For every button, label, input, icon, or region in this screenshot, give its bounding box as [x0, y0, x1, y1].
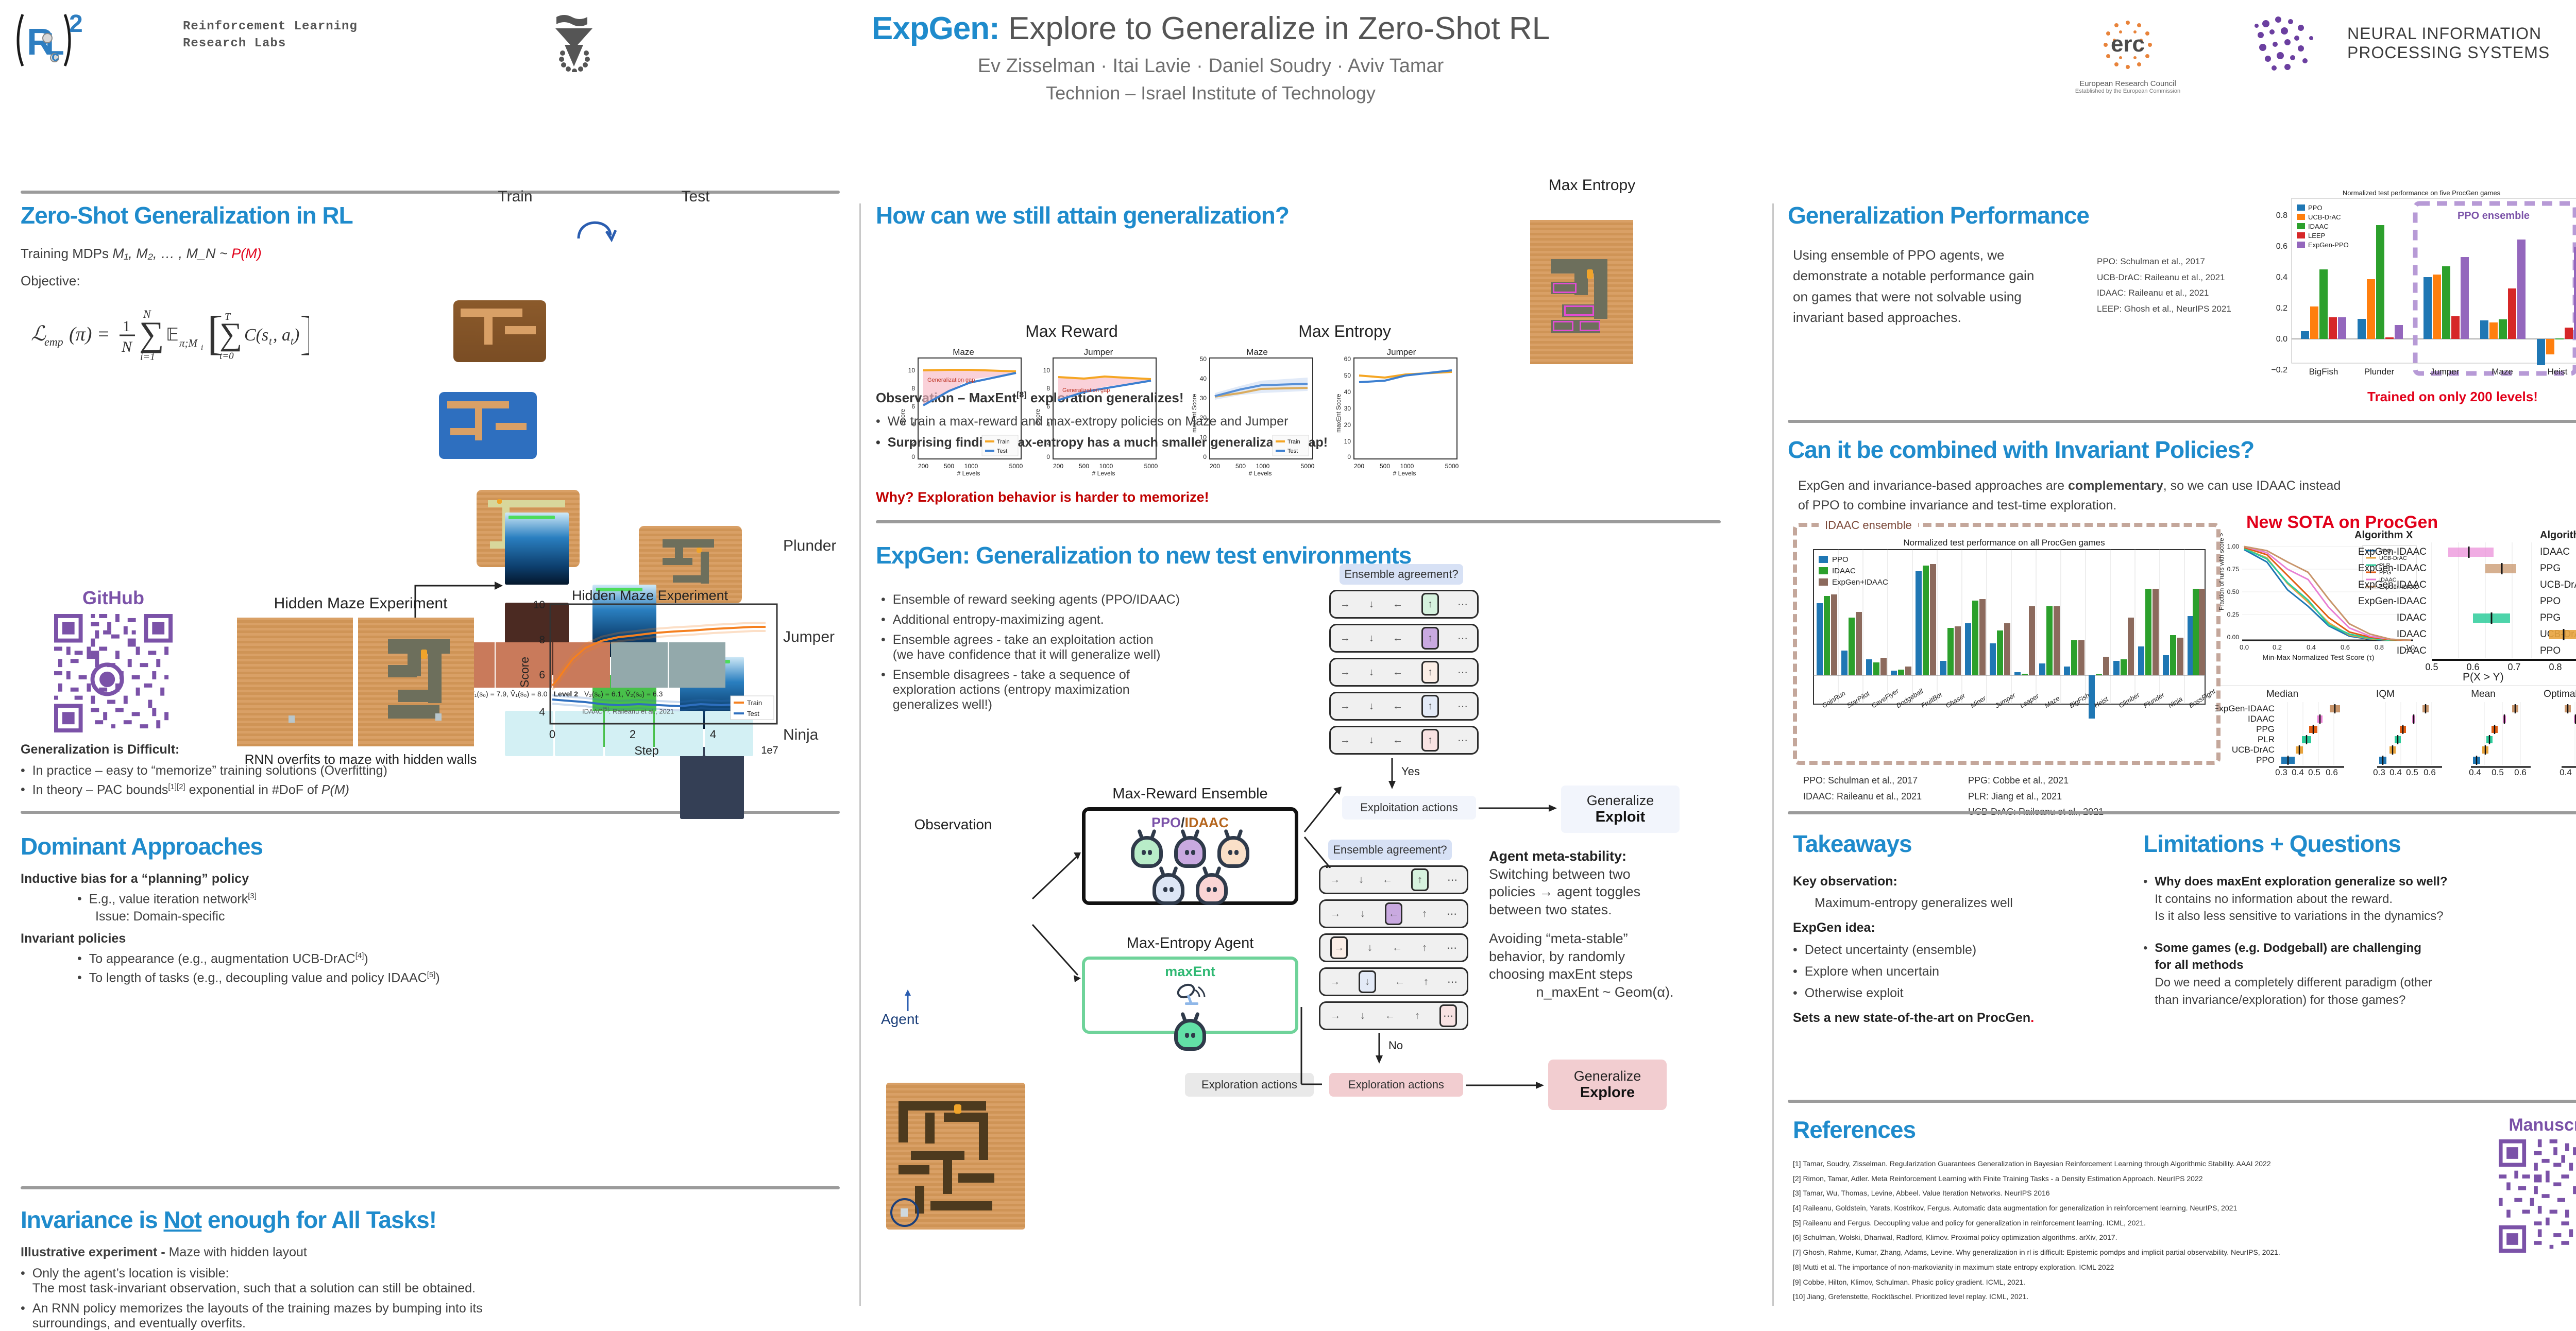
svg-text:BigFish: BigFish: [2309, 367, 2338, 377]
agent-icon-peach: [1217, 836, 1249, 868]
observation-label: Observation: [881, 816, 1025, 833]
exploration-actions-box-1: Exploration actions: [1185, 1073, 1314, 1097]
svg-text:0.00: 0.00: [2227, 634, 2240, 641]
section-title-takeaways: Takeaways: [1793, 832, 1912, 856]
meta-l4: Avoiding “meta-stable”: [1489, 930, 1721, 948]
ppo-text: PPO: [1151, 815, 1181, 830]
reference-item: [10] Jiang, Grefenstette, Rocktäschel. P…: [1793, 1289, 2458, 1304]
svg-text:0.2: 0.2: [2276, 304, 2287, 313]
svg-text:0.7: 0.7: [2507, 662, 2520, 672]
svg-text:Train: Train: [1287, 439, 1300, 445]
takeaways-body: Key observation: Maximum-entropy general…: [1793, 873, 2133, 1027]
arrow-down-icon: ↓: [1367, 942, 1372, 954]
arrow-right-icon: →: [1340, 599, 1350, 610]
len-a: To length of tasks (e.g., decoupling val…: [89, 970, 427, 985]
ellipsis-icon: ⋯: [1458, 632, 1468, 645]
bullet-ensemble-agents: •Ensemble of reward seeking agents (PPO/…: [881, 592, 1401, 607]
train-label: Train: [448, 188, 582, 206]
svg-text:0.4: 0.4: [2292, 767, 2304, 775]
hidden-maze-chart: Hidden Maze Experiment 10 8 6 4 Score 0 …: [515, 590, 804, 760]
divider-mid-1: [876, 520, 1721, 523]
maxentropy-plots-label: Max Entropy: [1236, 322, 1453, 341]
bullet-dot: •: [21, 1266, 25, 1296]
len-b: ): [435, 970, 439, 985]
svg-text:0.4: 0.4: [2307, 643, 2316, 651]
why-maxent-s2: Is it also less sensitive to variations …: [2155, 908, 2447, 925]
svg-text:Dodgeball: Dodgeball: [1895, 687, 1925, 709]
svg-text:500: 500: [1235, 463, 1246, 470]
lab-name-text-2: Research Labs: [183, 37, 358, 50]
svg-text:Score: Score: [1034, 408, 1041, 425]
arrow-down-icon: ↓: [1359, 874, 1364, 886]
manuscript-label: Manuscript: [2494, 1115, 2576, 1135]
inductive-bias-heading: Inductive bias for a “planning” policy: [21, 872, 840, 886]
svg-text:PPO: PPO: [2540, 596, 2561, 607]
ensemble-row-2-3: → ↓ ← ↑ ⋯: [1319, 933, 1468, 962]
svg-text:Maze: Maze: [2043, 694, 2061, 710]
lab-name-text-1: Reinforcement Learning: [183, 20, 358, 33]
svg-text:40: 40: [1200, 375, 1207, 382]
cite2-idaac: IDAAC: Raileanu et al., 2021: [1803, 789, 1922, 805]
section-title-expgen: ExpGen: Generalization to new test envir…: [876, 543, 1649, 567]
svg-text:Step: Step: [634, 744, 658, 757]
svg-text:10: 10: [533, 599, 545, 611]
svg-text:IDAAC: IDAAC: [2397, 629, 2427, 640]
arrow-up-icon-highlighted: ↑: [1421, 661, 1439, 684]
svg-text:Maze: Maze: [1246, 348, 1268, 357]
arrow-right-icon: →: [1340, 667, 1350, 678]
svg-text:0.6: 0.6: [2466, 662, 2479, 672]
trained-on-200-levels-note: Trained on only 200 levels!: [2367, 389, 2538, 405]
arrow-left-icon: ←: [1392, 942, 1402, 954]
svg-text:(π) =: (π) =: [69, 323, 110, 345]
agent-visible-l2: The most task-invariant observation, suc…: [32, 1281, 476, 1296]
bullet-dodgeball: • Some games (e.g. Dodgeball) are challe…: [2143, 940, 2576, 1009]
affiliation: Technion – Israel Institute of Technolog…: [644, 82, 1777, 104]
svg-text:8: 8: [911, 385, 915, 392]
dodgeball-s2: than invariance/exploration) for those g…: [2155, 992, 2432, 1009]
svg-text:1.00: 1.00: [2227, 543, 2240, 550]
arrow-up-icon: ↑: [1415, 1010, 1420, 1022]
reference-item: [6] Schulman, Wolski, Dhariwal, Radford,…: [1793, 1230, 2458, 1245]
svg-text:PPO: PPO: [2256, 755, 2275, 765]
svg-text:Miner: Miner: [1969, 694, 1988, 709]
svg-text:5000: 5000: [1009, 463, 1023, 470]
exploration-actions-box-2: Exploration actions: [1329, 1073, 1463, 1097]
svg-text:i=1: i=1: [140, 351, 155, 363]
maxent-thumbnail-label: Max Entropy: [1520, 177, 1664, 194]
svg-text:IDAAC: IDAAC: [2397, 612, 2427, 623]
svg-text:T: T: [225, 311, 231, 322]
section-title-dominant: Dominant Approaches: [21, 834, 840, 858]
arrow-up-icon-highlighted: ↑: [1421, 695, 1439, 718]
svg-text:IDAAC: IDAAC: [2540, 547, 2570, 557]
svg-text:Algorithm Y: Algorithm Y: [2540, 530, 2576, 541]
svg-text:4: 4: [1046, 421, 1050, 428]
svg-text:30: 30: [1344, 405, 1351, 412]
ci-bold: complementary: [2068, 479, 2163, 493]
svg-text:Maze: Maze: [2492, 367, 2513, 377]
svg-text:0.5: 0.5: [2492, 767, 2504, 775]
bullet-dot: •: [881, 668, 886, 712]
pac-a: In theory – PAC bounds: [32, 782, 168, 797]
svg-text:]: ]: [300, 306, 309, 359]
bullet-agent-visible: • Only the agent’s location is visible: …: [21, 1266, 840, 1296]
svg-text:0: 0: [1347, 453, 1351, 460]
svg-text:Jumper: Jumper: [1387, 348, 1416, 357]
svg-text:π;M: π;M: [179, 337, 198, 349]
app-sup: [4]: [355, 951, 364, 960]
why-maxent-s1: It contains no information about the rew…: [2155, 891, 2447, 908]
otherwise-exploit-text: Otherwise exploit: [1805, 985, 1904, 1002]
column-divider-1: [859, 203, 861, 1306]
illus-rest: Maze with hidden layout: [169, 1245, 307, 1259]
svg-text:1e7: 1e7: [761, 745, 778, 756]
cite-idaac: IDAAC: Raileanu et al., 2021: [2097, 285, 2231, 301]
title-prefix: ExpGen:: [872, 11, 999, 46]
svg-text:4: 4: [539, 706, 545, 718]
svg-text:PPG: PPG: [2540, 563, 2561, 574]
detect-uncertainty-text: Detect uncertainty (ensemble): [1805, 942, 1976, 959]
manuscript-block[interactable]: Manuscript: [2494, 1115, 2576, 1255]
gp-l4: invariant based approaches.: [1793, 307, 2081, 328]
invariant-policies-heading: Invariant policies: [21, 931, 840, 946]
bullet-dot: •: [881, 633, 886, 662]
bullet-otherwise-exploit: •Otherwise exploit: [1793, 985, 2133, 1002]
meta-stability-block: Agent meta-stability: Switching between …: [1489, 847, 1721, 1001]
bullet-dot: •: [881, 592, 886, 607]
reference-item: [2] Rimon, Tamar, Adler. Meta Reinforcem…: [1793, 1171, 2458, 1186]
cite-ucbdrac: UCB-DrAC: Raileanu et al., 2021: [2097, 270, 2231, 286]
svg-text:2: 2: [1046, 439, 1050, 446]
meta-l6: choosing maxEnt steps: [1489, 965, 1721, 983]
arrow-right-icon: →: [1330, 874, 1340, 886]
bullet-vin: • E.g., value iteration network[3]: [77, 892, 840, 907]
svg-text:0.8: 0.8: [2276, 211, 2287, 220]
svg-text:IDAAC: IDAAC: [2248, 714, 2275, 724]
no-label: No: [1388, 1039, 1403, 1052]
svg-text:PPO ensemble: PPO ensemble: [2458, 210, 2530, 221]
bullet-dot: •: [2143, 873, 2147, 925]
test-label: Test: [629, 188, 762, 206]
ensemble-row-2-2: → ↓ ← ↑ ⋯: [1319, 899, 1468, 928]
svg-text:IDAAC: IDAAC: [1832, 567, 1856, 575]
lab-name-line1: Reinforcement Learning Research Labs: [183, 20, 358, 50]
divider-left-2: [21, 1186, 840, 1189]
svg-text:Normalized test performance on: Normalized test performance on all ProcG…: [1903, 538, 2105, 548]
svg-text:0.8: 0.8: [2549, 662, 2562, 672]
bullet-ensemble-agrees: • Ensemble agrees - take an exploitation…: [881, 633, 1401, 662]
svg-text:0.4: 0.4: [2469, 767, 2481, 775]
github-block[interactable]: GitHub: [52, 587, 175, 735]
sota-b: .: [2030, 1011, 2034, 1025]
references-list: [1] Tamar, Soudry, Zisselman. Regulariza…: [1793, 1156, 2458, 1304]
rnn-memorize-l1: An RNN policy memorizes the layouts of t…: [32, 1301, 483, 1316]
svg-text:50: 50: [1200, 355, 1207, 363]
svg-text:# Levels: # Levels: [1092, 470, 1115, 476]
svg-text:0.0: 0.0: [2276, 335, 2287, 344]
svg-text:N: N: [121, 338, 133, 355]
hidden-maze-title: Hidden Maze Experiment: [237, 595, 484, 612]
bullet-detect-uncertainty: •Detect uncertainty (ensemble): [1793, 942, 2133, 959]
disagrees-l1: Ensemble disagrees - take a sequence of: [893, 668, 1130, 682]
github-qr-code[interactable]: [54, 614, 173, 732]
svg-text:t: t: [269, 336, 272, 347]
svg-text:0.4: 0.4: [2560, 767, 2572, 775]
cite2-ppo: PPO: Schulman et al., 2017: [1803, 773, 1922, 789]
ensemble-rows-2: → ↓ ← ↑ ⋯ → ↓ ← ↑ ⋯ → ↓ ← ↑ ⋯ → ↓ ← ↑ ⋯: [1319, 865, 1468, 1030]
svg-text:Generalization gap: Generalization gap: [1062, 387, 1110, 394]
reference-item: [9] Cobbe, Hilton, Klimov, Schulman. Pha…: [1793, 1275, 2458, 1290]
chart-title-hidden-maze: Hidden Maze Experiment: [572, 590, 728, 603]
arrow-down-icon: ↓: [1369, 735, 1374, 746]
aggregate-metrics-chart: MedianIQMMeanOptimality Gap ExpGen-IDAAC…: [2215, 682, 2576, 778]
svg-text:Normalized test performance on: Normalized test performance on five Proc…: [2343, 189, 2501, 197]
bullet-dot: •: [21, 763, 25, 778]
svg-text:4: 4: [710, 728, 716, 741]
svg-text:10: 10: [1200, 434, 1207, 441]
svg-text:0.4: 0.4: [2389, 767, 2402, 775]
slash-text: /: [1181, 815, 1185, 830]
svg-text:UCB-DrAC: UCB-DrAC: [2308, 213, 2341, 221]
svg-text:1000: 1000: [964, 463, 978, 470]
train-maze-2: [439, 392, 537, 459]
svg-text:BossFight: BossFight: [2188, 687, 2215, 709]
cite-leep: LEEP: Ghosh et al., NeurIPS 2021: [2097, 301, 2231, 317]
svg-text:i: i: [201, 344, 203, 352]
svg-text:Plunder: Plunder: [2142, 691, 2166, 710]
ensemble-row-1-5: → ↓ ← ↑ ⋯: [1329, 726, 1479, 755]
agent-icon-green: [1131, 836, 1163, 868]
svg-text:10: 10: [908, 367, 916, 374]
arrow-up-icon-highlighted: ↑: [1411, 868, 1429, 891]
objective-label: Objective:: [21, 273, 840, 289]
poster-title: ExpGen: Explore to Generalize in Zero-Sh…: [644, 10, 1777, 104]
svg-text:2: 2: [630, 728, 636, 741]
svg-text:0.75: 0.75: [2227, 566, 2240, 573]
section-title-combined-invariant: Can it be combined with Invariant Polici…: [1788, 438, 2254, 462]
bullet-dot: •: [21, 1301, 25, 1331]
observation-arrows: [1030, 837, 1087, 1007]
svg-text:∑: ∑: [219, 317, 242, 352]
arrow-down-icon: ↓: [1369, 633, 1374, 644]
agrees-l2: (we have confidence that it will general…: [893, 647, 1161, 662]
svg-text:6: 6: [1046, 403, 1050, 410]
svg-text:# Levels: # Levels: [1393, 470, 1416, 476]
arrow-left-icon: ←: [1393, 701, 1403, 712]
erc-wordmark: erc: [2111, 31, 2145, 57]
ppo-idaac-title: PPO/IDAAC: [1086, 815, 1295, 831]
ci-a: ExpGen and invariance-based approaches a…: [1798, 479, 2068, 493]
hidden-maze-panel: Hidden Maze Experiment RNN overfits to m…: [237, 595, 484, 767]
cite-ppo: PPO: Schulman et al., 2017: [2097, 254, 2231, 270]
exploit-arrow: [1479, 800, 1561, 816]
svg-text:30: 30: [1200, 395, 1207, 402]
section-title-invariance: Invariance is Not enough for All Tasks!: [21, 1208, 840, 1232]
svg-text:50: 50: [1344, 372, 1351, 379]
svg-text:Train: Train: [747, 699, 762, 707]
ensemble-row-1-3: → ↓ ← ↑ ⋯: [1329, 658, 1479, 687]
middle-column: How can we still attain generalization? …: [876, 203, 1731, 597]
svg-text:40: 40: [1344, 388, 1351, 396]
svg-text:PLR: PLR: [2258, 735, 2275, 744]
bullet-length: • To length of tasks (e.g., decoupling v…: [77, 970, 840, 985]
training-mdps-line: Training MDPs M₁, M₂, … , M_N ~ P(M): [21, 246, 840, 262]
observation-maze: [886, 1083, 1025, 1230]
illustrative-experiment-line: Illustrative experiment - Maze with hidd…: [21, 1245, 840, 1260]
svg-text:IDAAC: IDAAC: [2308, 223, 2329, 230]
svg-text:Plunder: Plunder: [2364, 367, 2395, 377]
training-mdps-pm: P(M): [231, 246, 261, 261]
svg-text:# Levels: # Levels: [957, 470, 980, 476]
svg-text:Jumper: Jumper: [2430, 367, 2460, 377]
bullet-dot: •: [881, 612, 886, 627]
gp-l2: demonstrate a notable performance gain: [1793, 265, 2081, 286]
arrow-up-icon: ↑: [1422, 908, 1427, 920]
reference-item: [1] Tamar, Soudry, Zisselman. Regulariza…: [1793, 1156, 2458, 1171]
svg-text:Ninja: Ninja: [2167, 695, 2184, 709]
pac-sup: [1][2]: [168, 782, 185, 791]
generalization-performance-text: Using ensemble of PPO agents, we demonst…: [1793, 245, 2081, 328]
dodgeball-s1: Do we need a completely different paradi…: [2155, 974, 2432, 992]
svg-text:200: 200: [918, 463, 928, 470]
bullet-why-maxent: • Why does maxEnt exploration generalize…: [2143, 873, 2576, 925]
svg-text:c: c: [52, 48, 59, 64]
svg-text:0.5: 0.5: [2406, 767, 2418, 775]
expgen-idea-label: ExpGen idea:: [1793, 919, 2133, 937]
svg-text:−0.2: −0.2: [2271, 366, 2287, 374]
svg-text:2: 2: [69, 10, 83, 38]
svg-text:0: 0: [549, 728, 555, 741]
svg-text:C(s: C(s: [244, 326, 268, 345]
limitations-body: • Why does maxEnt exploration generalize…: [2143, 873, 2576, 1009]
agent-icon-maxent: [1174, 1019, 1206, 1051]
svg-text:0.25: 0.25: [2227, 611, 2240, 618]
svg-text:1000: 1000: [1099, 463, 1113, 470]
svg-text:ExpGen-IDAAC: ExpGen-IDAAC: [2358, 579, 2427, 590]
svg-text:Score: Score: [899, 408, 906, 425]
svg-text:0.50: 0.50: [2227, 588, 2240, 595]
svg-text:Score: Score: [518, 657, 531, 688]
ensemble-row-2-4: → ↓ ← ↑ ⋯: [1319, 967, 1468, 996]
bullet-appearance-text: To appearance (e.g., augmentation UCB-Dr…: [89, 951, 368, 966]
svg-text:𝔼: 𝔼: [166, 326, 179, 345]
ensemble-agreement-label-1: Ensemble agreement?: [1340, 564, 1463, 585]
arrow-left-icon: ←: [1382, 874, 1393, 886]
title-rest: Explore to Generalize in Zero-Shot RL: [999, 11, 1550, 46]
bullet-length-text: To length of tasks (e.g., decoupling val…: [89, 970, 440, 985]
svg-text:IQM: IQM: [2376, 689, 2395, 699]
ellipsis-icon: ⋯: [1447, 942, 1457, 954]
svg-text:20: 20: [1200, 414, 1207, 421]
ellipsis-icon: ⋯: [1447, 976, 1458, 988]
cite2-plr: PLR: Jiang et al., 2021: [1968, 789, 2104, 805]
prob-improvement-chart: Algorithm X Algorithm Y ExpGen-IDAAC Exp…: [2324, 527, 2576, 679]
meta-l3: between two states.: [1489, 901, 1721, 919]
column-divider-2: [1772, 203, 1774, 1306]
svg-text:0.0: 0.0: [2240, 643, 2249, 651]
arrow-left-icon: ←: [1393, 633, 1403, 644]
gp-l1: Using ensemble of PPO agents, we: [1793, 245, 2081, 265]
svg-text:0.3: 0.3: [2275, 767, 2287, 775]
svg-text:10: 10: [1043, 367, 1050, 374]
ensemble-row-1-4: → ↓ ← ↑ ⋯: [1329, 692, 1479, 721]
manuscript-qr-code[interactable]: [2499, 1139, 2576, 1253]
gp-l3: on games that were not solvable using: [1793, 286, 2081, 307]
svg-text:Test: Test: [997, 448, 1007, 454]
svg-text:0.2: 0.2: [2273, 643, 2282, 651]
svg-text:2: 2: [911, 439, 915, 446]
agent-visible-l1: Only the agent’s location is visible:: [32, 1266, 476, 1281]
svg-text:500: 500: [1079, 463, 1089, 470]
section-title-how-generalize: How can we still attain generalization?: [876, 203, 1494, 227]
section-title-references: References: [1793, 1118, 1916, 1141]
svg-text:0: 0: [1046, 453, 1050, 460]
svg-text:Jumper: Jumper: [1084, 348, 1113, 357]
svg-text:Median: Median: [2266, 689, 2298, 699]
arrow-up-icon: ↑: [1422, 942, 1427, 954]
svg-text:1000: 1000: [1400, 463, 1414, 470]
training-mdps-label: Training MDPs: [21, 246, 109, 261]
ensemble-row-1-1: → ↓ ← ↑ ⋯: [1329, 590, 1479, 619]
bullet-dot: •: [77, 892, 82, 907]
generalize-exploit-box: Generalize Exploit: [1561, 786, 1680, 833]
arrow-left-icon: ←: [1393, 735, 1403, 746]
bullet-dot: •: [1793, 985, 1798, 1002]
idaac-ensemble-tag: IDAAC ensemble: [1819, 519, 1918, 532]
max-entropy-agent-label: Max-Entropy Agent: [1077, 935, 1303, 952]
svg-text:6: 6: [911, 403, 915, 410]
svg-text:PPO: PPO: [2308, 204, 2322, 212]
agent-icon-purple: [1174, 836, 1206, 868]
svg-text:Maze: Maze: [953, 348, 974, 357]
combined-invariant-text: ExpGen and invariance-based approaches a…: [1798, 476, 2576, 515]
citations-top: PPO: Schulman et al., 2017 UCB-DrAC: Rai…: [2097, 254, 2231, 317]
meta-l1: Switching between two: [1489, 865, 1721, 883]
bullet-dot: •: [876, 414, 880, 429]
svg-text:Jumper: Jumper: [1993, 691, 2017, 710]
ensemble-out-arrows: [1299, 698, 1346, 868]
erc-logo: erc European Research Council Establishe…: [2035, 11, 2221, 94]
inv-a: Invariance is: [21, 1206, 164, 1233]
svg-text:Algorithm X: Algorithm X: [2354, 530, 2413, 541]
svg-text:BigFish: BigFish: [2068, 691, 2091, 710]
bullet-dot: •: [2143, 940, 2147, 1009]
svg-text:Test: Test: [747, 710, 759, 718]
reference-item: [8] Mutti et al. The importance of non-m…: [1793, 1260, 2458, 1275]
ensemble-row-2-5: → ↓ ← ↑ ⋯: [1319, 1001, 1468, 1030]
svg-text:20: 20: [1344, 421, 1351, 429]
disagrees-l3: generalizes well!): [893, 697, 1130, 712]
arrow-down-icon: ↓: [1369, 599, 1374, 610]
divider-right-1: [1788, 420, 2576, 423]
svg-text:Generalization gap: Generalization gap: [927, 377, 975, 383]
plunder-thumb-1: [505, 513, 569, 585]
svg-text:ExpGen-IDAAC: ExpGen-IDAAC: [2358, 547, 2427, 557]
svg-text:Mean: Mean: [2471, 689, 2496, 699]
svg-text:4: 4: [911, 421, 915, 428]
expgen-bullets: •Ensemble of reward seeking agents (PPO/…: [881, 587, 1401, 712]
arrow-down-icon: ↓: [1369, 701, 1374, 712]
generalize-explore-line1: Generalize: [1574, 1068, 1641, 1084]
cite2-ppg: PPG: Cobbe et al., 2021: [1968, 773, 2104, 789]
svg-text:0.3: 0.3: [2373, 767, 2385, 775]
arrow-down-icon-highlighted: ↓: [1359, 970, 1376, 993]
svg-text:CoinRun: CoinRun: [1821, 689, 1847, 710]
reference-item: [4] Raileanu, Goldstein, Yarats, Kostrik…: [1793, 1201, 2458, 1216]
meta-l7: n_maxEnt ~ Geom(α).: [1489, 983, 1721, 1001]
ci-b: , so we can use IDAAC instead: [2163, 479, 2341, 493]
